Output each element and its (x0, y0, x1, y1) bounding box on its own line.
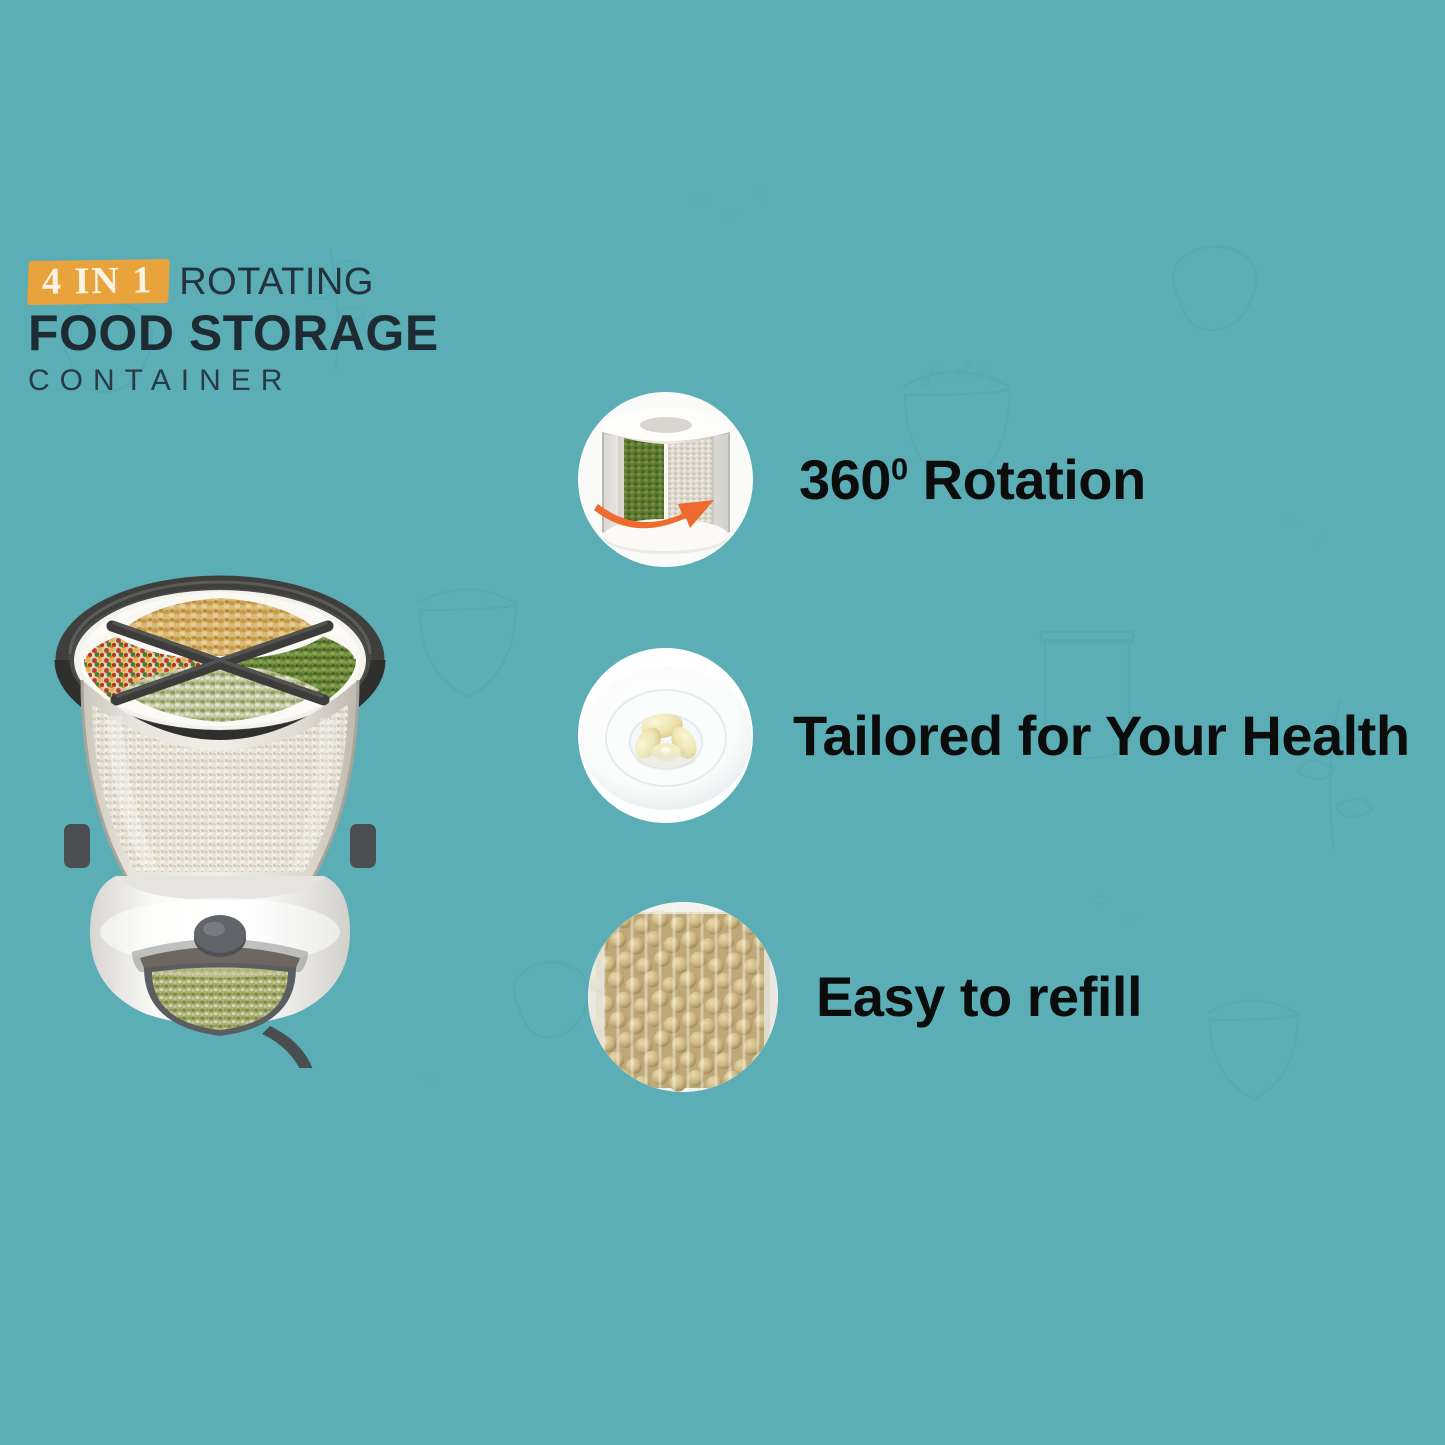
four-in-one-badge: 4 IN 1 (27, 259, 170, 305)
scoop-handle (262, 1026, 316, 1068)
four-in-one-badge-label: 4 IN 1 (42, 261, 154, 301)
product-infographic-poster: 4 IN 1 ROTATING FOOD STORAGE CONTAINER (0, 0, 1445, 1445)
product-image (20, 528, 420, 1068)
side-clip-right (350, 824, 376, 868)
chickpeas-container-thumbnail (588, 902, 778, 1092)
headline-line-2: FOOD STORAGE (28, 307, 508, 360)
feature-rotation: 3600 Rotation (578, 392, 1146, 567)
feature-rotation-caption-degree: 0 (891, 451, 908, 486)
feature-refill-caption: Easy to refill (816, 969, 1142, 1025)
feature-health-caption: Tailored for Your Health (793, 708, 1410, 764)
feature-health: Tailored for Your Health (578, 648, 1410, 823)
side-clip-left (64, 824, 90, 868)
feature-rotation-caption-word: Rotation (908, 448, 1146, 511)
feature-rotation-caption-number: 360 (799, 448, 891, 511)
headline-rotating-word: ROTATING (179, 263, 374, 301)
rotating-container-thumbnail (578, 392, 753, 567)
garlic-plate-thumbnail (578, 648, 753, 823)
headline-line-1: 4 IN 1 ROTATING (28, 258, 508, 305)
headline-block: 4 IN 1 ROTATING FOOD STORAGE CONTAINER (28, 258, 508, 397)
headline-line-3: CONTAINER (28, 364, 508, 397)
feature-rotation-caption: 3600 Rotation (799, 452, 1146, 508)
feature-refill: Easy to refill (588, 902, 1142, 1092)
